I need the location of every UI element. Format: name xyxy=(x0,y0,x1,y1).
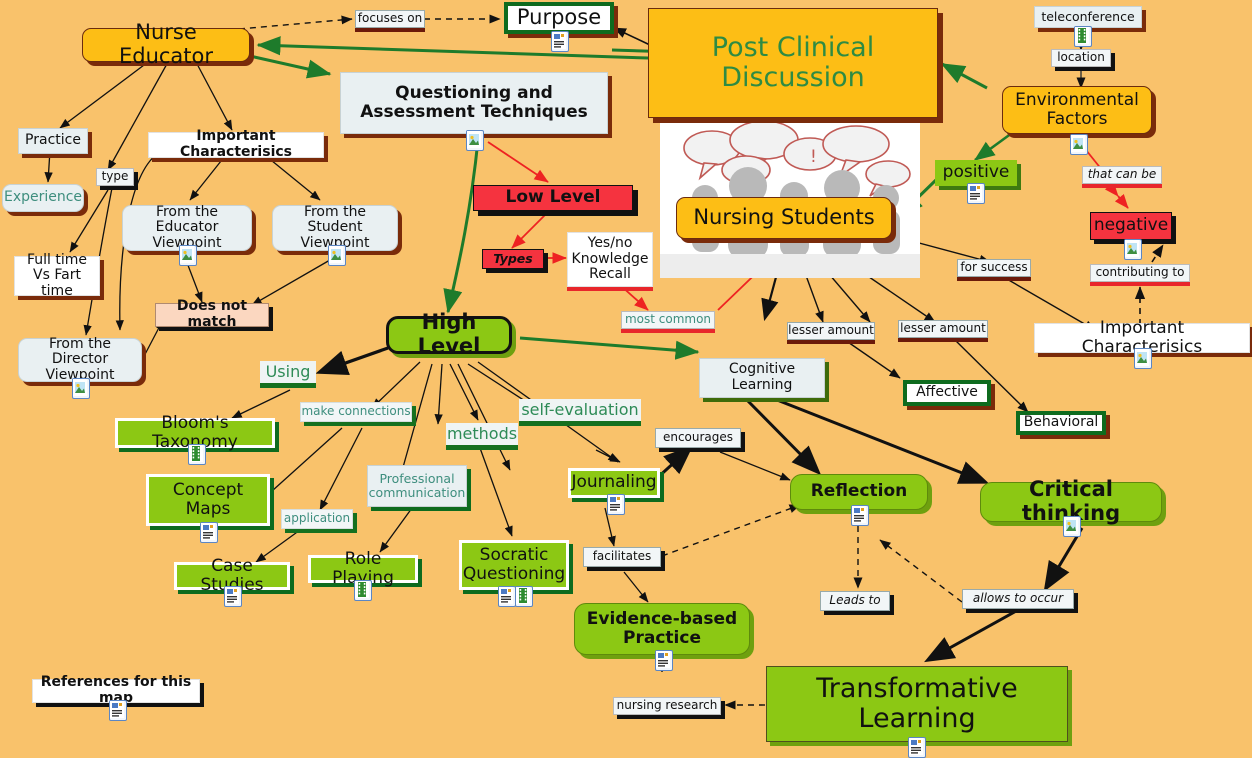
image-icon[interactable] xyxy=(1070,134,1088,155)
link-label-using[interactable]: Using xyxy=(260,361,316,383)
link-label-lesser-amount-1[interactable]: lesser amount xyxy=(787,322,875,340)
node-label: teleconference xyxy=(1035,10,1141,24)
node-role-playing[interactable]: Role Playing xyxy=(308,555,418,583)
video-icon[interactable] xyxy=(515,586,533,607)
link-label: encourages xyxy=(663,431,733,444)
node-affective[interactable]: Affective xyxy=(903,380,991,406)
node-label: negative xyxy=(1090,216,1172,235)
node-label: Yes/no Knowledge Recall xyxy=(568,236,653,283)
node-professional-communication[interactable]: Professional communication xyxy=(367,465,467,507)
node-yes-no-knowledge-recall[interactable]: Yes/no Knowledge Recall xyxy=(567,232,653,287)
concept-map-canvas: ! Post Clinical Discussion Nurse Educato… xyxy=(0,0,1252,758)
video-icon[interactable] xyxy=(354,580,372,601)
node-socratic-questioning[interactable]: Socratic Questioning xyxy=(459,540,569,590)
link-label-for-success[interactable]: for success xyxy=(957,259,1031,277)
node-label: Practice xyxy=(19,133,87,149)
document-icon[interactable] xyxy=(200,522,218,543)
document-icon[interactable] xyxy=(908,737,926,758)
node-negative[interactable]: negative xyxy=(1090,212,1172,240)
node-label: From the Director Viewpoint xyxy=(19,337,141,384)
node-label: Journaling xyxy=(567,473,660,492)
node-label: Purpose xyxy=(508,6,610,30)
image-icon[interactable] xyxy=(179,245,197,266)
image-icon[interactable] xyxy=(1063,516,1081,537)
document-icon[interactable] xyxy=(551,31,569,52)
node-label: Transformative Learning xyxy=(767,674,1067,734)
node-behavioral[interactable]: Behavioral xyxy=(1016,411,1106,435)
node-cognitive-learning[interactable]: Cognitive Learning xyxy=(699,358,825,398)
node-label: Socratic Questioning xyxy=(459,546,569,584)
image-icon[interactable] xyxy=(466,130,484,151)
document-icon[interactable] xyxy=(655,650,673,671)
node-purpose[interactable]: Purpose xyxy=(504,2,614,34)
document-icon[interactable] xyxy=(967,183,985,204)
link-label: application xyxy=(284,512,350,525)
node-post-clinical-discussion[interactable]: Post Clinical Discussion xyxy=(648,8,938,118)
node-nurse-educator[interactable]: Nurse Educator xyxy=(82,28,250,62)
svg-text:!: ! xyxy=(810,147,817,167)
node-experience[interactable]: Experience xyxy=(2,184,84,212)
node-transformative-learning[interactable]: Transformative Learning xyxy=(766,666,1068,742)
image-icon[interactable] xyxy=(1124,239,1142,260)
node-nursing-students[interactable]: Nursing Students xyxy=(676,197,892,239)
link-label: type xyxy=(102,170,129,183)
node-from-the-director-viewpoint[interactable]: From the Director Viewpoint xyxy=(18,338,142,382)
node-low-level[interactable]: Low Level xyxy=(473,185,633,211)
node-label: Affective xyxy=(907,385,987,401)
node-label: Reflection xyxy=(791,482,927,501)
node-teleconference[interactable]: teleconference xyxy=(1034,6,1142,28)
document-icon[interactable] xyxy=(851,505,869,526)
link-label: focuses on xyxy=(358,12,422,25)
node-environmental-factors[interactable]: Environmental Factors xyxy=(1002,86,1152,134)
node-label: Nursing Students xyxy=(677,206,891,230)
link-label: lesser amount xyxy=(788,324,874,337)
node-questioning-and-assessment-techniques[interactable]: Questioning and Assessment Techniques xyxy=(340,72,608,134)
video-icon[interactable] xyxy=(188,444,206,465)
node-label: Concept Maps xyxy=(149,481,267,519)
link-label-lesser-amount-2[interactable]: lesser amount xyxy=(898,320,988,338)
link-label-type[interactable]: type xyxy=(96,168,134,186)
image-icon[interactable] xyxy=(1134,348,1152,369)
link-label-facilitates[interactable]: facilitates xyxy=(583,547,661,567)
node-label: positive xyxy=(935,163,1017,182)
node-full-time-vs-part-time[interactable]: Full time Vs Fart time xyxy=(14,256,100,296)
link-label-that-can-be[interactable]: that can be xyxy=(1082,166,1162,184)
node-label: Experience xyxy=(0,190,86,206)
node-label: Evidence-based Practice xyxy=(575,610,749,648)
link-label-allows-to-occur[interactable]: allows to occur xyxy=(962,589,1074,609)
node-label: High Level xyxy=(389,311,509,358)
document-icon[interactable] xyxy=(607,494,625,515)
link-label: that can be xyxy=(1088,168,1157,181)
node-label: Does not match xyxy=(156,299,268,330)
link-label-make-connections[interactable]: make connections xyxy=(300,402,412,422)
link-label: Using xyxy=(266,363,311,381)
link-label-most-common[interactable]: most common xyxy=(621,311,715,329)
document-icon[interactable] xyxy=(109,700,127,721)
link-label: for success xyxy=(960,261,1027,274)
link-label: location xyxy=(1057,51,1105,64)
link-label-application[interactable]: application xyxy=(281,509,353,529)
node-label: Post Clinical Discussion xyxy=(649,33,937,93)
image-icon[interactable] xyxy=(328,245,346,266)
node-label: Low Level xyxy=(474,188,632,207)
link-label-contributing-to[interactable]: contributing to xyxy=(1090,264,1190,282)
link-label: make connections xyxy=(301,405,410,418)
node-high-level[interactable]: High Level xyxy=(386,316,512,354)
link-label: lesser amount xyxy=(900,322,986,335)
node-evidence-based-practice[interactable]: Evidence-based Practice xyxy=(574,603,750,655)
link-label: self-evaluation xyxy=(521,401,638,419)
link-label: contributing to xyxy=(1096,266,1185,279)
node-label: Cognitive Learning xyxy=(700,362,824,393)
link-label: allows to occur xyxy=(973,592,1063,605)
link-label-self-evaluation[interactable]: self-evaluation xyxy=(519,399,641,421)
link-label-leads-to[interactable]: Leads to xyxy=(820,591,890,611)
node-label: Full time Vs Fart time xyxy=(15,253,99,300)
link-label: Leads to xyxy=(829,594,880,607)
document-icon[interactable] xyxy=(498,586,516,607)
link-label: facilitates xyxy=(593,550,652,563)
link-label-methods[interactable]: methods xyxy=(446,423,518,445)
link-label-location[interactable]: location xyxy=(1051,49,1111,67)
link-label-focuses-on[interactable]: focuses on xyxy=(355,10,425,28)
node-label: Professional communication xyxy=(365,472,470,500)
node-label: Important Characterisics xyxy=(149,129,323,160)
node-concept-maps[interactable]: Concept Maps xyxy=(146,474,270,526)
video-icon[interactable] xyxy=(1074,26,1092,47)
link-label: most common xyxy=(625,313,711,326)
node-label: Environmental Factors xyxy=(1003,91,1151,129)
node-label: Behavioral xyxy=(1020,415,1103,431)
document-icon[interactable] xyxy=(224,586,242,607)
node-does-not-match[interactable]: Does not match xyxy=(155,303,269,327)
link-label: nursing research xyxy=(617,699,718,712)
link-label-nursing-research[interactable]: nursing research xyxy=(613,697,721,715)
node-label: Questioning and Assessment Techniques xyxy=(341,84,607,122)
link-label: Types xyxy=(483,252,543,266)
link-label-types[interactable]: Types xyxy=(482,249,544,269)
link-label: methods xyxy=(447,425,517,443)
image-icon[interactable] xyxy=(72,378,90,399)
node-label: Nurse Educator xyxy=(83,21,249,68)
node-practice[interactable]: Practice xyxy=(18,128,88,154)
link-label-encourages[interactable]: encourages xyxy=(655,428,741,448)
node-important-characterisics-left[interactable]: Important Characterisics xyxy=(148,132,324,158)
